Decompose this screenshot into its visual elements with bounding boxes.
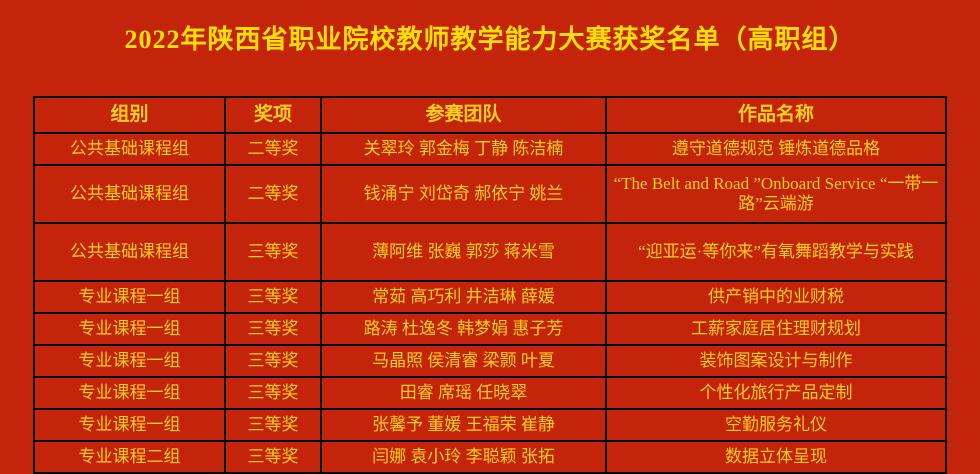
cell-team: 薄阿维 张巍 郭莎 蒋米雪 (321, 223, 606, 281)
cell-prize: 三等奖 (225, 345, 321, 377)
cell-prize: 三等奖 (225, 377, 321, 409)
cell-team: 常茹 高巧利 井洁琳 薛媛 (321, 281, 606, 313)
table-row: 专业课程一组三等奖马晶照 侯清睿 梁颢 叶夏装饰图案设计与制作 (34, 345, 946, 377)
cell-group: 公共基础课程组 (34, 133, 225, 165)
cell-prize: 三等奖 (225, 223, 321, 281)
cell-group: 公共基础课程组 (34, 165, 225, 223)
table-row: 专业课程一组三等奖田睿 席瑶 任晓翠个性化旅行产品定制 (34, 377, 946, 409)
cell-work: 个性化旅行产品定制 (606, 377, 946, 409)
page-title: 2022年陕西省职业院校教师教学能力大赛获奖名单（高职组） (0, 0, 980, 53)
cell-team: 闫娜 袁小玲 李聪颖 张拓 (321, 441, 606, 473)
table-row: 专业课程一组三等奖常茹 高巧利 井洁琳 薛媛供产销中的业财税 (34, 281, 946, 313)
cell-group: 专业课程一组 (34, 409, 225, 441)
column-header-prize: 奖项 (225, 97, 321, 133)
table-row: 公共基础课程组二等奖钱涌宁 刘岱奇 郝依宁 姚兰“The Belt and Ro… (34, 165, 946, 223)
cell-team: 钱涌宁 刘岱奇 郝依宁 姚兰 (321, 165, 606, 223)
cell-work: 空勤服务礼仪 (606, 409, 946, 441)
cell-work: 数据立体呈现 (606, 441, 946, 473)
cell-work: 装饰图案设计与制作 (606, 345, 946, 377)
column-header-team: 参赛团队 (321, 97, 606, 133)
award-table: 组别 奖项 参赛团队 作品名称 公共基础课程组二等奖关翠玲 郭金梅 丁静 陈洁楠… (33, 96, 947, 474)
table-body: 公共基础课程组二等奖关翠玲 郭金梅 丁静 陈洁楠遵守道德规范 锤炼道德品格公共基… (34, 133, 946, 473)
cell-prize: 三等奖 (225, 281, 321, 313)
cell-team: 关翠玲 郭金梅 丁静 陈洁楠 (321, 133, 606, 165)
table-row: 公共基础课程组三等奖薄阿维 张巍 郭莎 蒋米雪“迎亚运·等你来”有氧舞蹈教学与实… (34, 223, 946, 281)
cell-team: 路涛 杜逸冬 韩梦娟 惠子芳 (321, 313, 606, 345)
cell-team: 张馨予 董媛 王福荣 崔静 (321, 409, 606, 441)
table-row: 专业课程二组三等奖闫娜 袁小玲 李聪颖 张拓数据立体呈现 (34, 441, 946, 473)
column-header-work: 作品名称 (606, 97, 946, 133)
table-row: 专业课程一组三等奖路涛 杜逸冬 韩梦娟 惠子芳工薪家庭居住理财规划 (34, 313, 946, 345)
cell-group: 公共基础课程组 (34, 223, 225, 281)
table-row: 公共基础课程组二等奖关翠玲 郭金梅 丁静 陈洁楠遵守道德规范 锤炼道德品格 (34, 133, 946, 165)
cell-work: “迎亚运·等你来”有氧舞蹈教学与实践 (606, 223, 946, 281)
cell-work: 遵守道德规范 锤炼道德品格 (606, 133, 946, 165)
cell-group: 专业课程一组 (34, 313, 225, 345)
cell-group: 专业课程二组 (34, 441, 225, 473)
cell-group: 专业课程一组 (34, 377, 225, 409)
award-list-page: 2022年陕西省职业院校教师教学能力大赛获奖名单（高职组） 组别 奖项 参赛团队… (0, 0, 980, 454)
column-header-group: 组别 (34, 97, 225, 133)
award-table-container: 组别 奖项 参赛团队 作品名称 公共基础课程组二等奖关翠玲 郭金梅 丁静 陈洁楠… (33, 96, 945, 474)
cell-prize: 三等奖 (225, 313, 321, 345)
cell-prize: 二等奖 (225, 165, 321, 223)
cell-work: “The Belt and Road ”Onboard Service “一带一… (606, 165, 946, 223)
cell-group: 专业课程一组 (34, 281, 225, 313)
cell-prize: 三等奖 (225, 409, 321, 441)
cell-work: 供产销中的业财税 (606, 281, 946, 313)
cell-team: 马晶照 侯清睿 梁颢 叶夏 (321, 345, 606, 377)
table-header: 组别 奖项 参赛团队 作品名称 (34, 97, 946, 133)
cell-prize: 三等奖 (225, 441, 321, 473)
cell-group: 专业课程一组 (34, 345, 225, 377)
table-row: 专业课程一组三等奖张馨予 董媛 王福荣 崔静空勤服务礼仪 (34, 409, 946, 441)
cell-prize: 二等奖 (225, 133, 321, 165)
cell-work: 工薪家庭居住理财规划 (606, 313, 946, 345)
table-header-row: 组别 奖项 参赛团队 作品名称 (34, 97, 946, 133)
cell-team: 田睿 席瑶 任晓翠 (321, 377, 606, 409)
